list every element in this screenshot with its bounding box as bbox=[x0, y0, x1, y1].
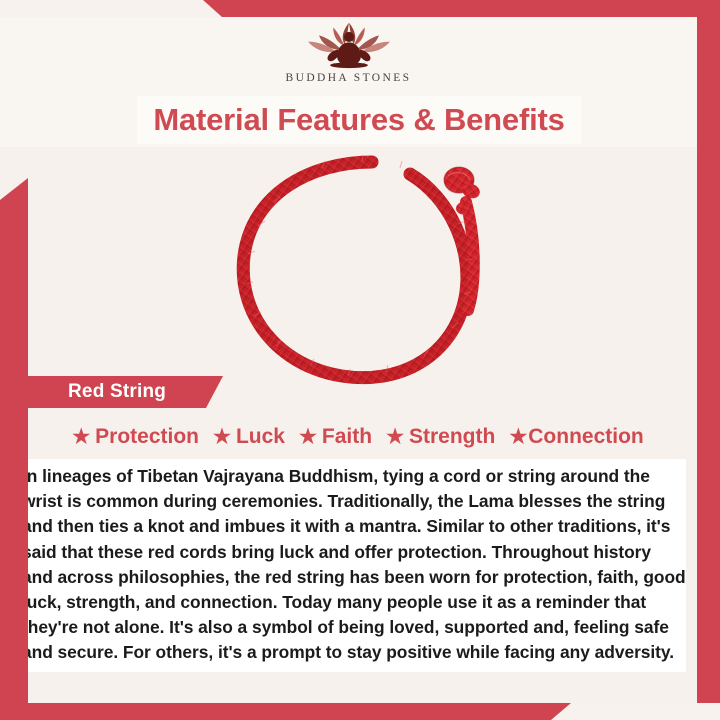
feature-item-connection: ★ Connection bbox=[509, 425, 643, 449]
description-text: In lineages of Tibetan Vajrayana Buddhis… bbox=[22, 464, 686, 666]
left-accent-bar bbox=[0, 178, 28, 703]
feature-label: Strength bbox=[409, 425, 495, 449]
feature-item-luck: ★ Luck bbox=[213, 425, 285, 449]
infographic-page: BUDDHA STONES Material Features & Benefi… bbox=[0, 0, 720, 720]
page-title: Material Features & Benefits bbox=[153, 102, 564, 138]
material-name-label: Red String bbox=[68, 381, 166, 403]
star-icon: ★ bbox=[509, 427, 527, 447]
right-accent-bar bbox=[697, 17, 720, 703]
description-block: In lineages of Tibetan Vajrayana Buddhis… bbox=[22, 459, 686, 672]
lotus-meditation-icon bbox=[301, 18, 397, 70]
feature-label: Faith bbox=[322, 425, 372, 449]
feature-item-strength: ★ Strength bbox=[386, 425, 495, 449]
star-icon: ★ bbox=[299, 427, 317, 447]
red-string-bracelet-illustration bbox=[214, 150, 514, 396]
material-name-ribbon: Red String bbox=[28, 376, 223, 408]
product-image bbox=[214, 150, 514, 396]
feature-label: Protection bbox=[95, 425, 199, 449]
title-banner: Material Features & Benefits bbox=[137, 96, 581, 144]
feature-label: Connection bbox=[528, 425, 644, 449]
feature-label: Luck bbox=[236, 425, 285, 449]
feature-item-faith: ★ Faith bbox=[299, 425, 372, 449]
feature-item-protection: ★ Protection bbox=[72, 425, 199, 449]
brand-logo: BUDDHA STONES bbox=[0, 18, 697, 84]
star-icon: ★ bbox=[213, 427, 231, 447]
bottom-accent-strip bbox=[0, 703, 720, 720]
star-icon: ★ bbox=[72, 427, 90, 447]
brand-name: BUDDHA STONES bbox=[0, 72, 697, 84]
top-accent-strip bbox=[0, 0, 720, 17]
feature-list: ★ Protection ★ Luck ★ Faith ★ Strength ★… bbox=[28, 420, 688, 454]
star-icon: ★ bbox=[386, 427, 404, 447]
